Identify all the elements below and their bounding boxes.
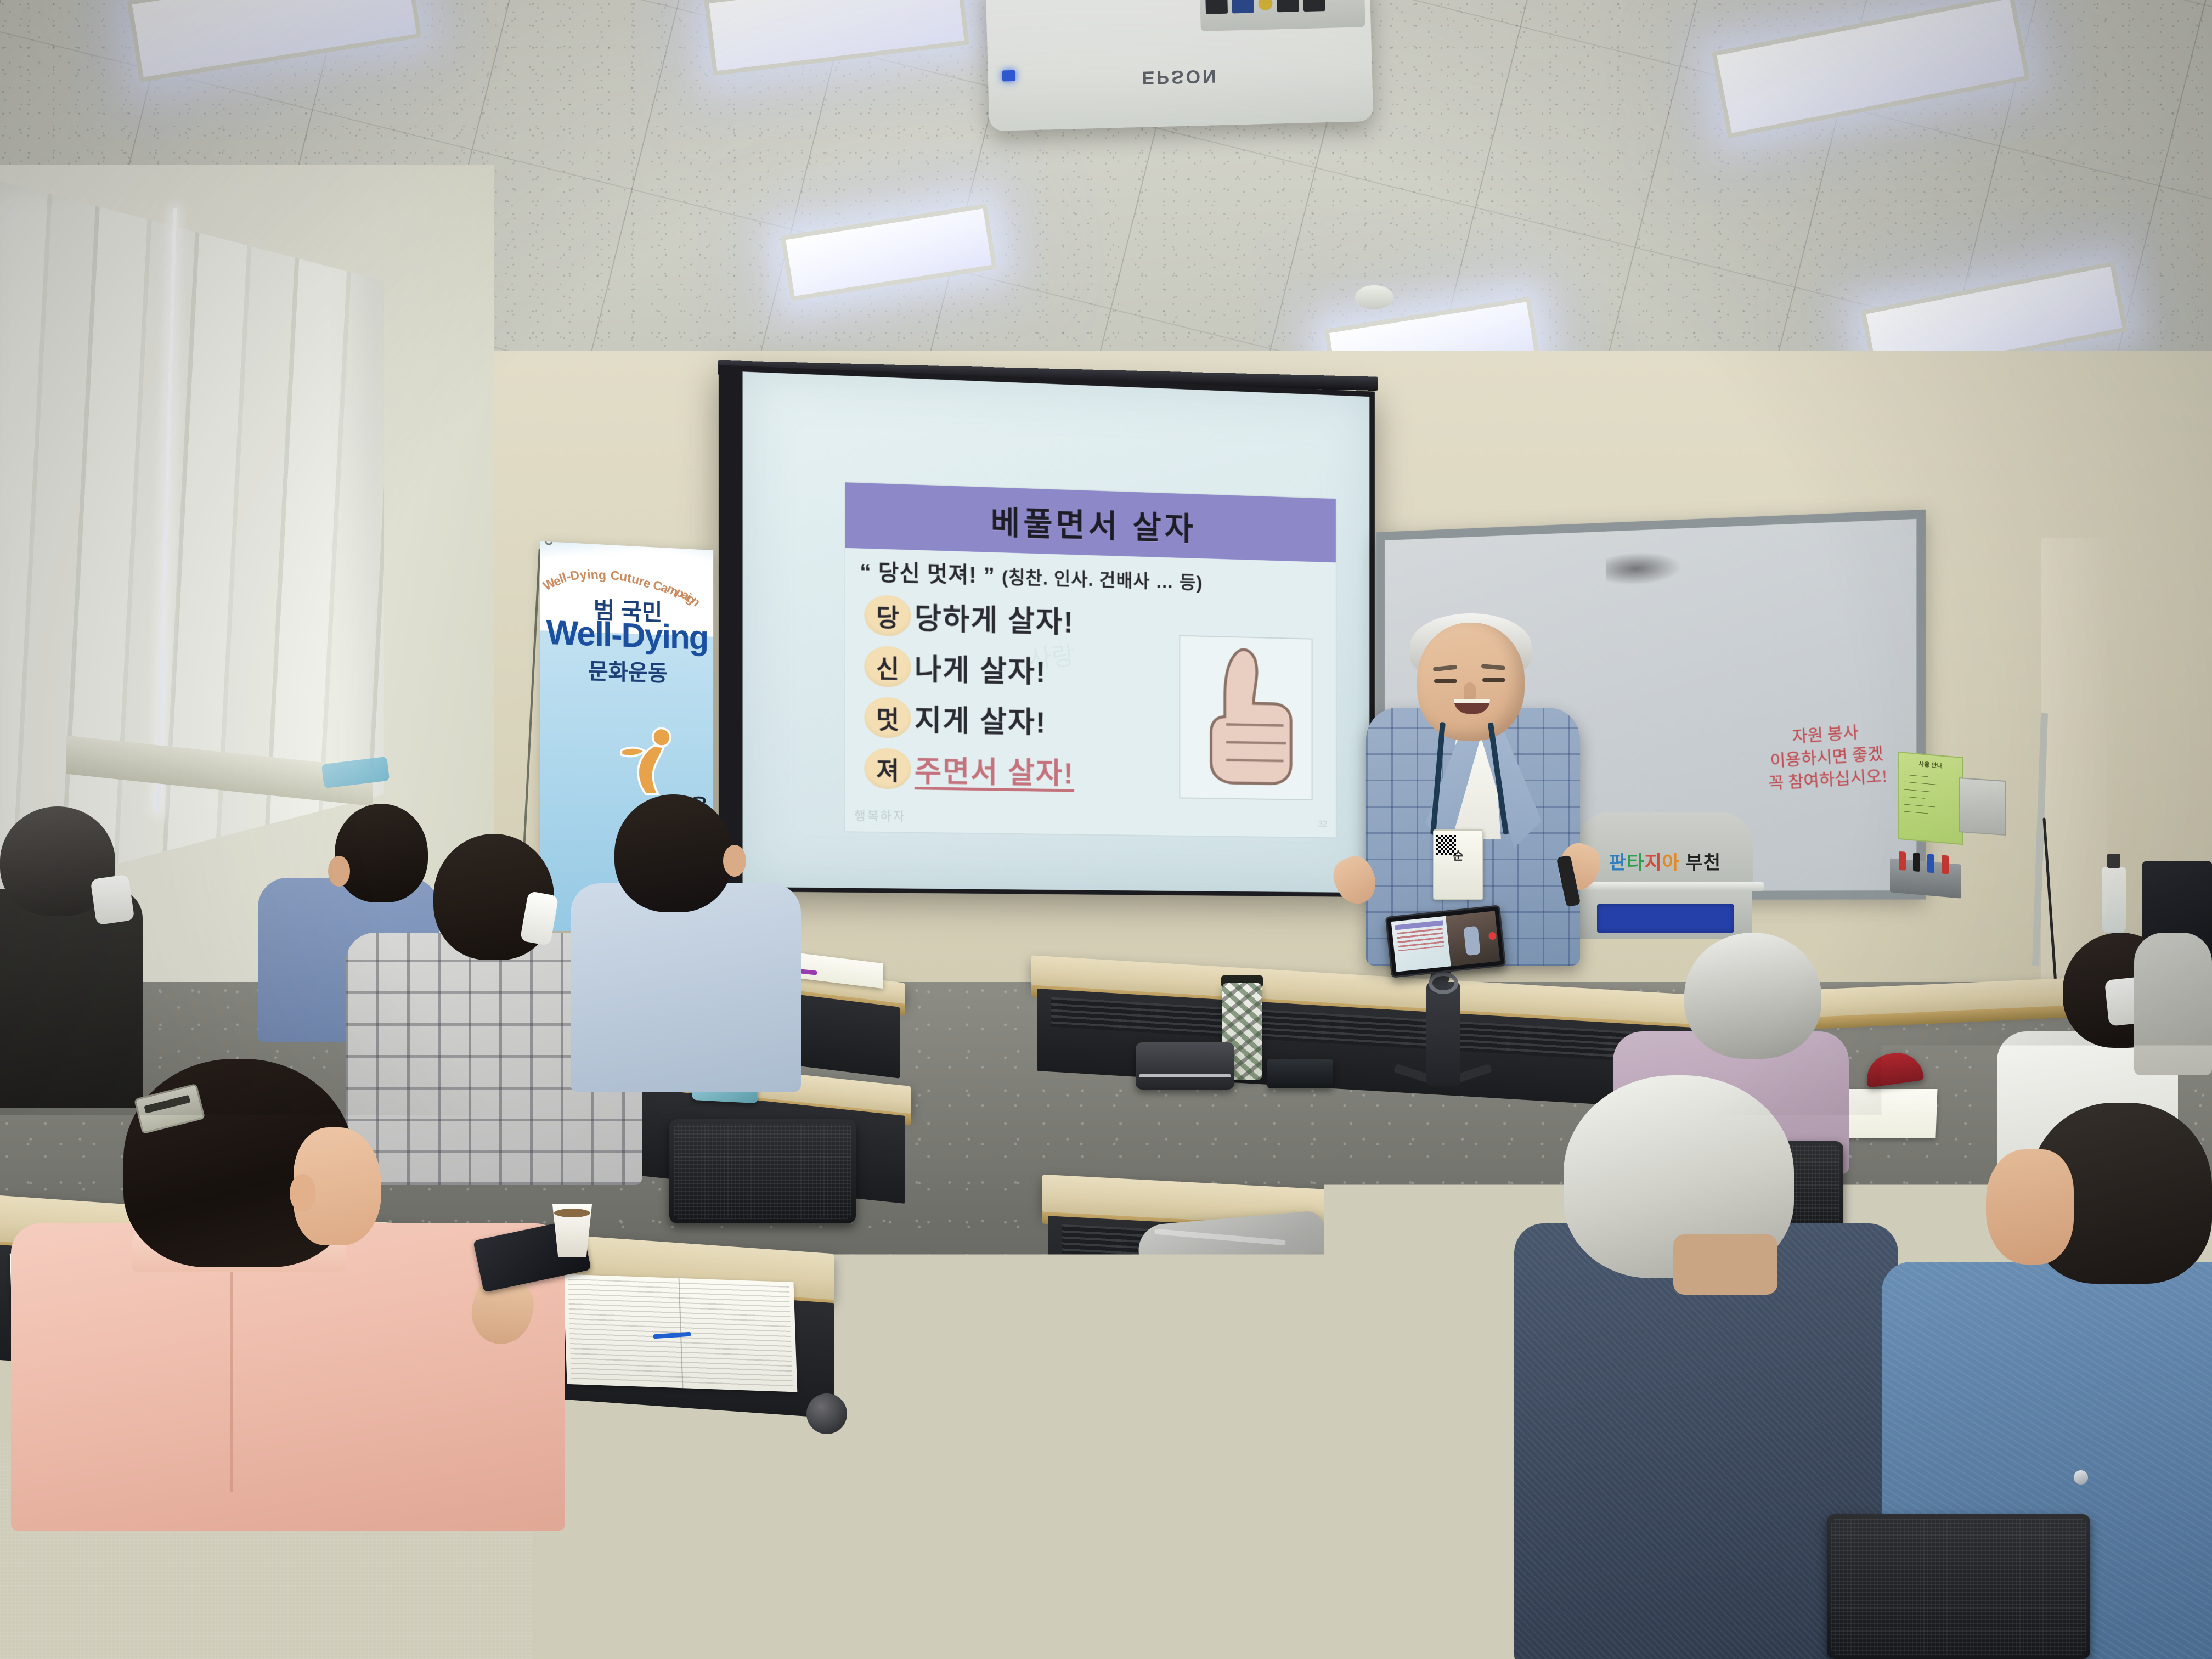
preview-slide-half <box>1391 916 1451 972</box>
ceiling-projector: EPSON <box>986 0 1374 131</box>
bag-fold <box>1154 1229 1286 1246</box>
electrical-box <box>1959 777 2006 836</box>
presenter-head <box>1417 623 1525 741</box>
slide-row: 멋 지게 살자! <box>864 692 1336 751</box>
denim-pocket-button <box>2074 1470 2088 1485</box>
projector-port-video <box>1258 0 1273 10</box>
slide-row-text: 당하게 살자! <box>915 595 1074 641</box>
whiteboard-handwritten-note: 자원 봉사 이용하시면 좋겠 꼭 참여하십시오! <box>1752 719 1902 797</box>
projector-port-vga <box>1232 0 1254 13</box>
notice-placard-title: 사용 안내 <box>1904 759 1957 772</box>
marker-red-2[interactable] <box>1942 855 1949 874</box>
slide-row-syllable: 신 <box>864 646 911 688</box>
slide-row-text: 지게 살자! <box>915 697 1047 742</box>
water-bottle-cap <box>2107 854 2120 868</box>
banner-arc-char <box>607 568 610 583</box>
attendee-lightblue-ear <box>723 845 746 877</box>
water-bottle[interactable] <box>2101 867 2126 933</box>
marker-blue[interactable] <box>1927 854 1934 873</box>
cup-contents <box>554 1209 590 1217</box>
office-chair-right-front[interactable] <box>1827 1514 2090 1659</box>
marker-tray <box>1890 858 1961 898</box>
gimbal-motor-ring <box>1429 972 1458 994</box>
attendee-blue-shirt-head <box>335 804 428 902</box>
lectern-venue-sign: 판타지아 부천 <box>1609 848 1721 874</box>
banner-english-title: Well-Dying <box>540 613 713 658</box>
gimbal-handle[interactable] <box>1426 982 1460 1086</box>
banner-arc-char: C <box>610 568 619 583</box>
lectern-blue-plate <box>1597 904 1734 933</box>
whiteboard-scuff-mark <box>1606 550 1682 586</box>
lectern-header: 판타지아 부천 <box>1577 812 1753 883</box>
wall-notice-placard: 사용 안내 ──────────────────────────────────… <box>1898 752 1963 845</box>
banner-figure-logo <box>611 726 680 804</box>
slide-subtitle-quote: “ 당신 멋져! ” <box>860 560 995 588</box>
presenter-eye-left <box>1434 679 1457 683</box>
wallet[interactable] <box>1267 1059 1333 1088</box>
phone-live-preview <box>1391 911 1500 972</box>
chair-caster-wheel <box>806 1393 847 1434</box>
banner-arc-char: n <box>590 567 599 583</box>
slide-title: 베풀면서 살자 <box>991 496 1197 549</box>
classroom-scene: EPSON 베풀면서 살자 “ 당신 멋져! ” (칭찬. 인사. 건배사 … … <box>0 0 2212 1659</box>
projector-port-hdmi <box>1277 0 1299 12</box>
projector-status-led <box>1002 70 1016 82</box>
open-booklet-center[interactable] <box>1310 1255 1483 1329</box>
attendee-lightblue-shirt-torso <box>571 883 801 1092</box>
camera-case[interactable] <box>1136 1042 1234 1090</box>
slide-row-text-accent: 주면서 살자! <box>915 748 1074 793</box>
slide-subtitle-paren: (칭찬. 인사. 건배사 … 등) <box>1002 567 1203 592</box>
projector-port-panel <box>1199 0 1365 31</box>
projector-port-usb <box>1303 0 1325 12</box>
office-chair-center[interactable] <box>1251 1361 1558 1498</box>
slide-acrostic-list: 당 당하게 살자! 신 나게 살자! 멋 지게 살자! 져 주면서 살자! <box>864 590 1336 801</box>
attendee-denim-face <box>1986 1149 2074 1265</box>
chair-caster-wheel <box>1059 1459 1106 1506</box>
slide-row-syllable: 져 <box>864 748 911 789</box>
presenter-eye-right <box>1482 678 1505 682</box>
face-mask <box>90 874 134 926</box>
recording-smartphone[interactable] <box>1385 905 1506 978</box>
slide-row: 신 나게 살자! <box>864 641 1336 702</box>
marker-red[interactable] <box>1899 851 1906 871</box>
case-zipper <box>1139 1074 1231 1077</box>
attendee-lightblue-shirt-head <box>614 794 732 912</box>
slide-row-syllable: 멋 <box>864 697 911 738</box>
attendee-purple-sweater-head <box>1684 933 1821 1059</box>
slide-title-bar: 베풀면서 살자 <box>845 482 1336 562</box>
slide-page-number: 32 <box>1318 820 1327 830</box>
chair-mesh-back <box>1255 1365 1554 1493</box>
slide-row: 져 주면서 살자! <box>864 743 1336 801</box>
pink-blazer-seam <box>230 1251 233 1492</box>
chair-mesh-back <box>674 1124 851 1219</box>
badge-qr-code <box>1436 835 1456 855</box>
blue-pack[interactable] <box>1098 1303 1178 1358</box>
projector-brand-label: EPSON <box>1142 65 1218 88</box>
attendee-blue-shirt-ear <box>328 856 350 887</box>
projector-port <box>1205 0 1228 14</box>
office-chair-left-mid[interactable] <box>669 1119 856 1223</box>
screen-surface: 베풀면서 살자 “ 당신 멋져! ” (칭찬. 인사. 건배사 … 등) 사랑 … <box>743 371 1370 893</box>
chair-mesh-back <box>1831 1519 2086 1655</box>
attendee-pink-ear <box>290 1174 316 1212</box>
ceiling-smoke-detector <box>1355 285 1393 309</box>
attendee-navy-knit-neck <box>1673 1234 1778 1295</box>
banner-korean-bottom: 문화운동 <box>540 652 713 689</box>
presentation-slide: 베풀면서 살자 “ 당신 멋져! ” (칭찬. 인사. 건배사 … 등) 사랑 … <box>845 482 1336 837</box>
projection-screen: 베풀면서 살자 “ 당신 멋져! ” (칭찬. 인사. 건배사 … 등) 사랑 … <box>719 365 1375 897</box>
slide-row-syllable: 당 <box>864 595 911 637</box>
slide-row-text: 나게 살자! <box>915 646 1047 691</box>
slide-footer-text: 행복하자 <box>854 806 906 825</box>
banner-arc-char: g <box>599 568 607 583</box>
marker-black[interactable] <box>1913 853 1920 872</box>
attendee-far-right-torso <box>2134 933 2212 1075</box>
